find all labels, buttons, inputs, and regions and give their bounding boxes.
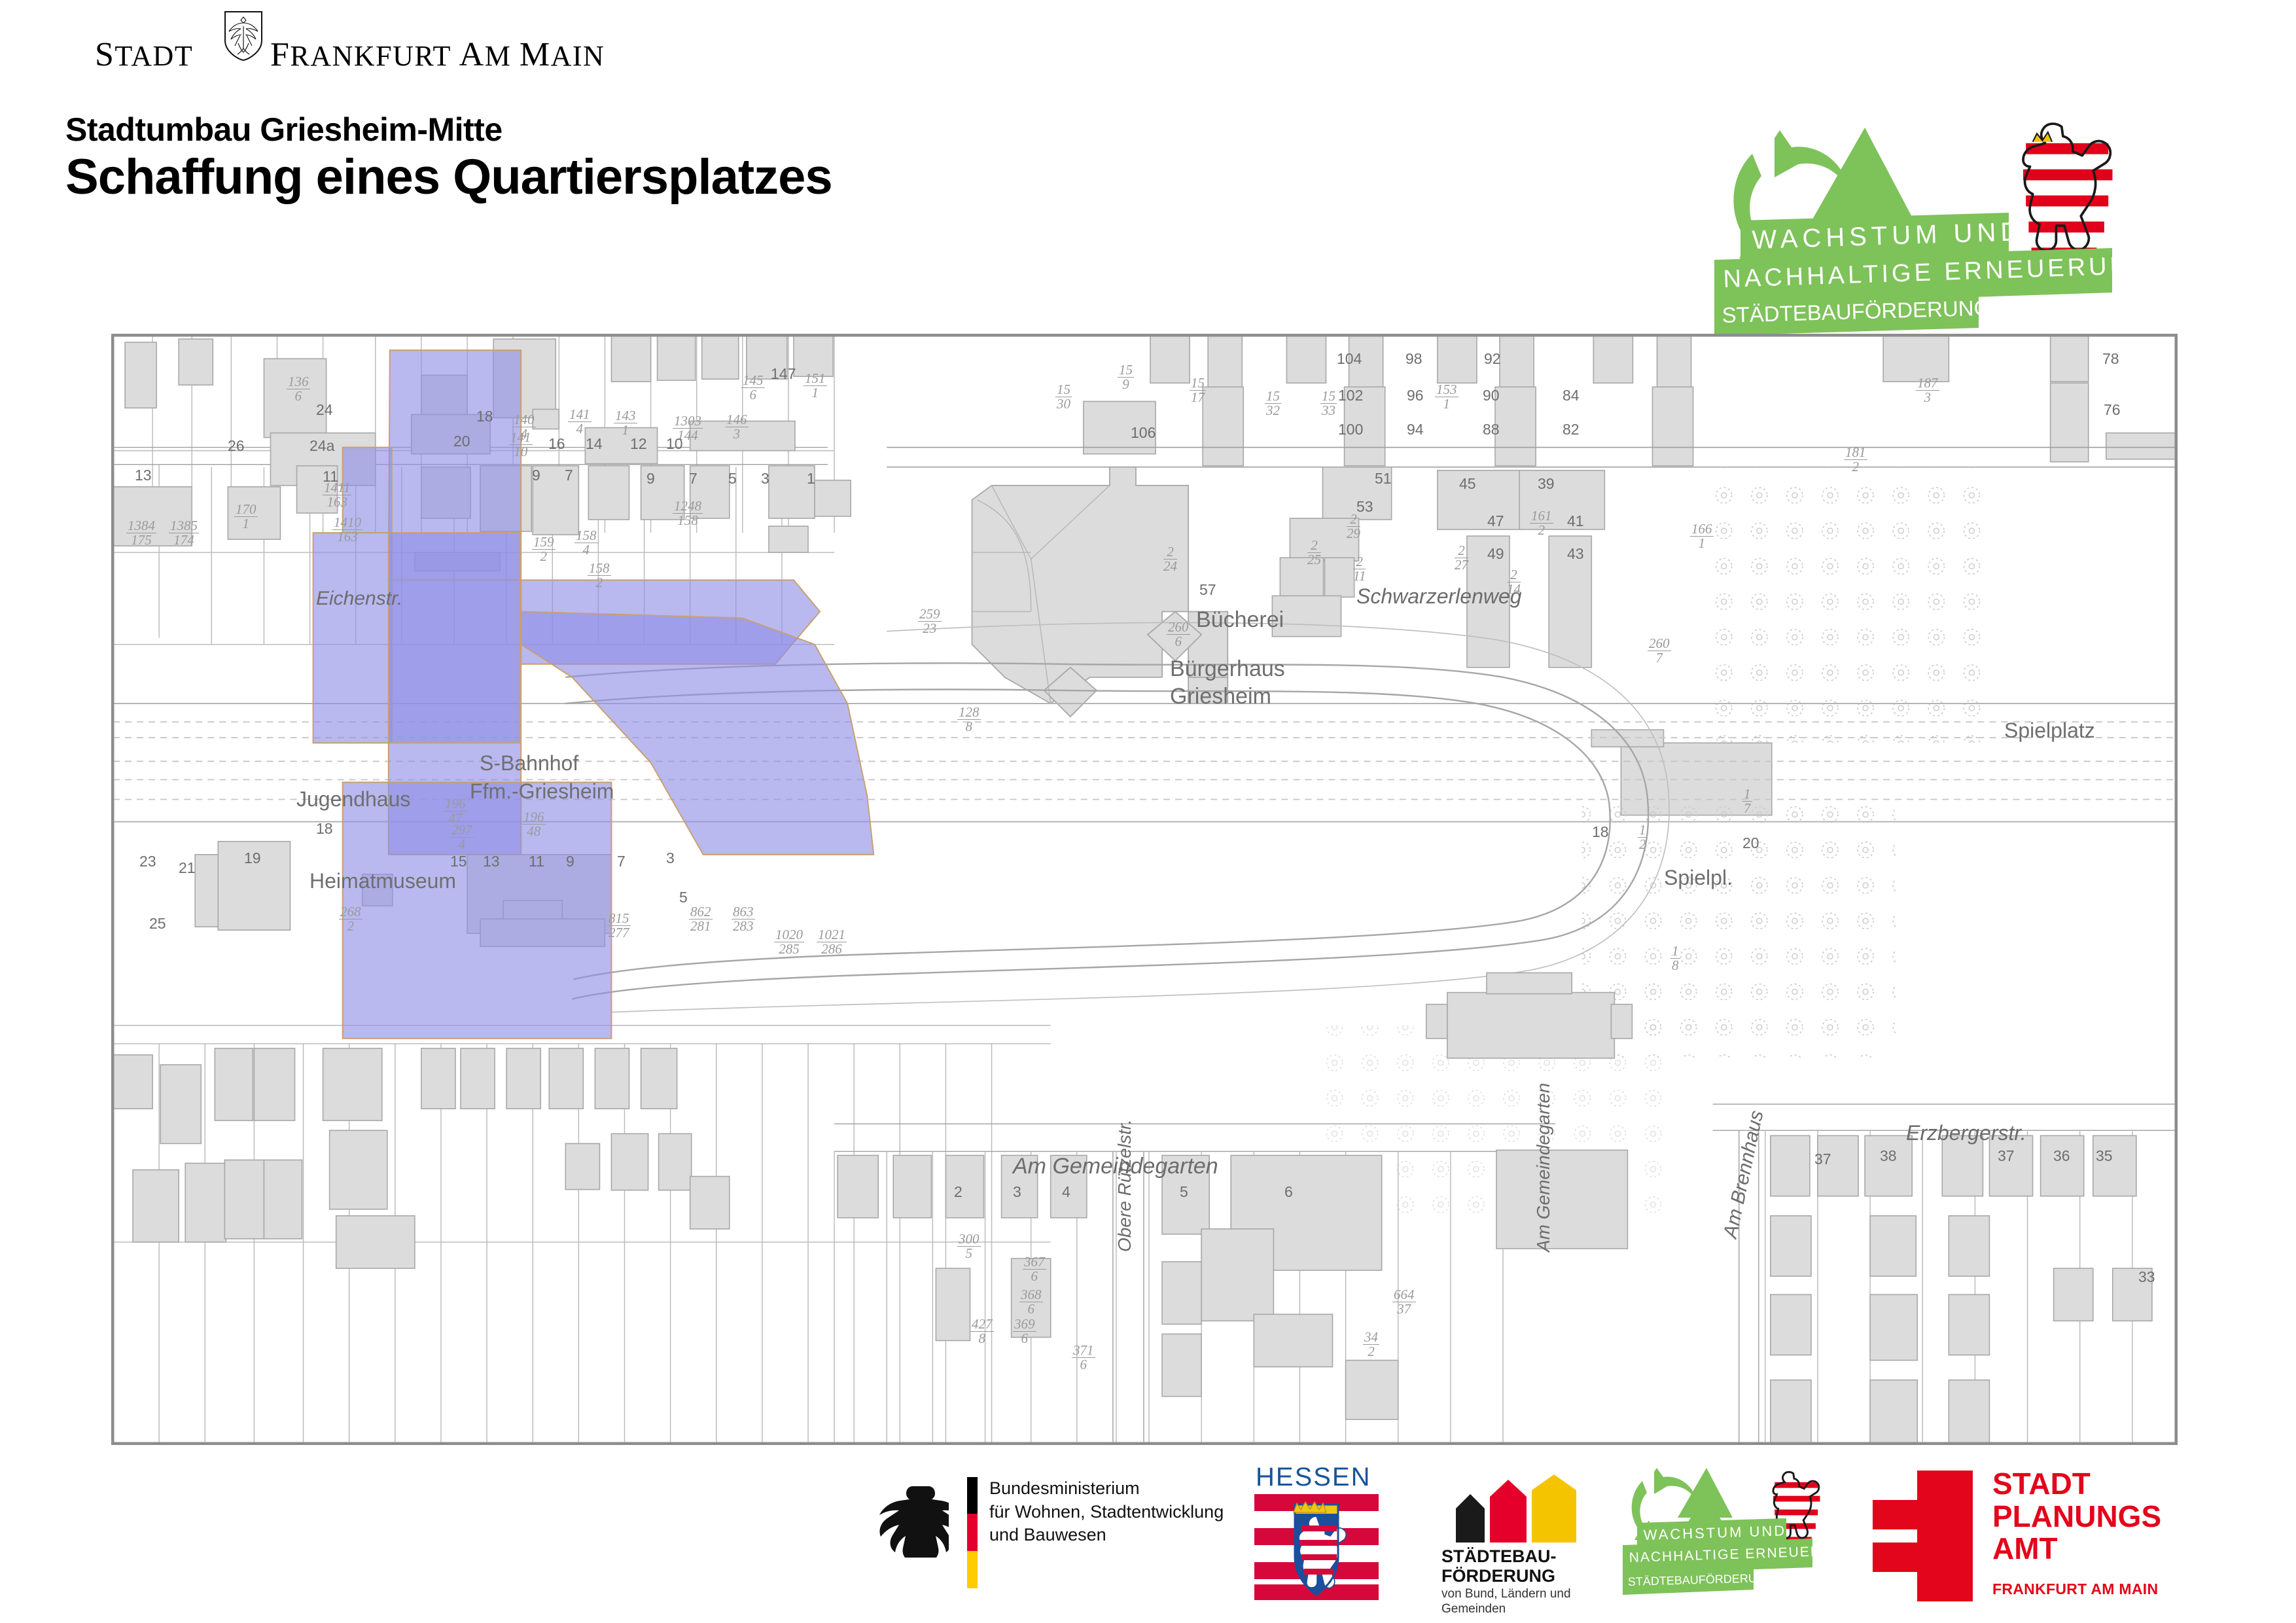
- stadt-frankfurt-wordmark: SStadtTADT FRANKFURT AM MAIN: [95, 34, 514, 73]
- staedtebau-line1: STÄDTEBAU-: [1441, 1546, 1557, 1566]
- three-houses-icon: [1443, 1474, 1587, 1543]
- page-footer: Bundesministerium für Wohnen, Stadtentwi…: [0, 1463, 2296, 1623]
- project-area-highlight: [113, 336, 2176, 1443]
- staedtebau-title: STÄDTEBAU- FÖRDERUNG: [1441, 1546, 1557, 1586]
- title-block: Stadtumbau Griesheim-Mitte Schaffung ein…: [65, 113, 832, 203]
- bmwsb-line1: Bundesministerium: [989, 1477, 1224, 1501]
- hessen-wordmark: HESSEN: [1256, 1463, 1371, 1492]
- bmwsb-text: Bundesministerium für Wohnen, Stadtentwi…: [989, 1477, 1224, 1547]
- page-subtitle: Stadtumbau Griesheim-Mitte: [65, 113, 832, 147]
- spa-line4: FRANKFURT AM MAIN: [1992, 1580, 2158, 1598]
- staedtebaufoerderung-logo: STÄDTEBAU- FÖRDERUNG von Bund, Ländern u…: [1423, 1463, 1613, 1613]
- spa-line3: AMT: [1992, 1533, 2161, 1565]
- bmwsb-line2: für Wohnen, Stadtentwicklung: [989, 1501, 1224, 1524]
- wachstum-logo-footer: WACHSTUM UND NACHHALTIGE ERNEUERUNG STÄD…: [1623, 1463, 1845, 1613]
- page-header: SStadtTADT FRANKFURT AM MAIN Stadtumbau …: [0, 0, 2296, 327]
- stadtplanungsamt-title: STADT PLANUNGS AMT: [1992, 1468, 2161, 1565]
- stadtplanungsamt-logo: STADT PLANUNGS AMT FRANKFURT AM MAIN: [1865, 1463, 2205, 1613]
- staedtebau-subtitle: von Bund, Ländern und Gemeinden: [1441, 1587, 1571, 1617]
- hessen-shield-icon: [1254, 1493, 1379, 1601]
- stadt-frankfurt-logo: SStadtTADT FRANKFURT AM MAIN: [95, 34, 514, 80]
- staedtebau-line4: Gemeinden: [1441, 1602, 1571, 1617]
- spa-line2: PLANUNGS: [1992, 1501, 2161, 1533]
- page-title: Schaffung eines Quartiersplatzes: [65, 151, 832, 204]
- bmwsb-line3: und Bauwesen: [989, 1524, 1224, 1547]
- bundesadler-icon: [877, 1482, 949, 1558]
- cadastral-map[interactable]: Eichenstr.SchwarzerlenwegErzbergerstr.Am…: [111, 334, 2178, 1445]
- german-flag-bar: [967, 1477, 978, 1588]
- hessen-logo: HESSEN: [1253, 1463, 1397, 1613]
- staedtebau-line2: FÖRDERUNG: [1441, 1566, 1557, 1586]
- stadtplanungsamt-mark-icon: [1871, 1471, 1973, 1601]
- spa-line1: STADT: [1992, 1468, 2161, 1501]
- bmwsb-logo: Bundesministerium für Wohnen, Stadtentwi…: [870, 1463, 1237, 1613]
- wachstum-und-nachhaltige-erneuerung-logo: WACHSTUM UND NACHHALTIGE ERNEUERUNG STÄD…: [1714, 115, 2212, 337]
- staedtebau-line3: von Bund, Ländern und: [1441, 1587, 1571, 1602]
